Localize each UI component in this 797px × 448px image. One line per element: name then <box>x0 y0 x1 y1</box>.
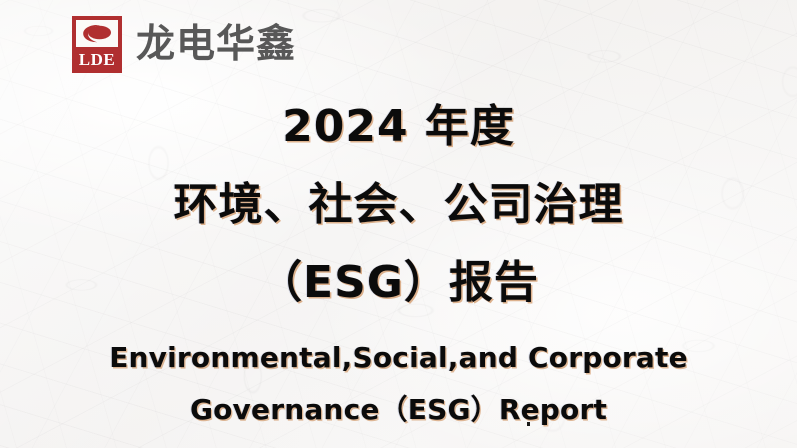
subtitle-line-2: Governance（ESG）Report <box>0 384 797 436</box>
brand-lockup: LDE 龙电华鑫 <box>72 16 296 73</box>
title-line-report: （ESG）报告 <box>0 244 797 322</box>
subtitle-line-1: Environmental,Social,and Corporate <box>0 332 797 384</box>
logo-plate <box>76 20 118 47</box>
lde-swoosh-logo-icon: LDE <box>72 16 122 73</box>
esg-report-cover-slide: LDE 龙电华鑫 2024 年度 环境、社会、公司治理 （ESG）报告 Envi… <box>0 0 797 448</box>
title-line-esg-pillars: 环境、社会、公司治理 <box>0 166 797 244</box>
title-block-chinese: 2024 年度 环境、社会、公司治理 （ESG）报告 <box>0 88 797 322</box>
title-block-english: Environmental,Social,and Corporate Gover… <box>0 332 797 436</box>
company-name: 龙电华鑫 <box>136 25 296 64</box>
logo-wordmark: LDE <box>79 47 115 73</box>
title-line-year: 2024 年度 <box>0 88 797 166</box>
swoosh-icon <box>80 23 114 44</box>
paper-speck <box>527 422 530 426</box>
